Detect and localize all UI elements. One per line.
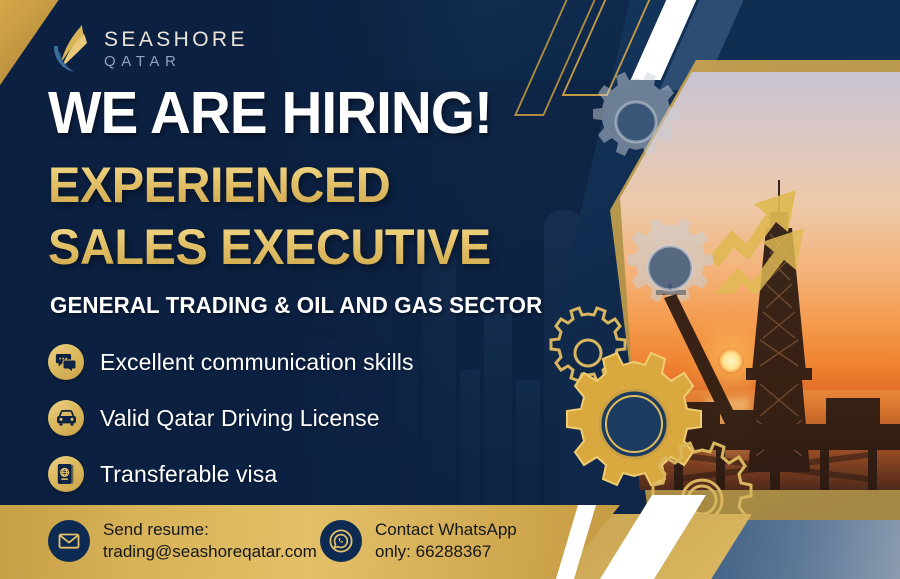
content-column: SEASHORE QATAR WE ARE HIRING! EXPERIENCE… (0, 0, 600, 579)
brand-name: SEASHORE (104, 29, 248, 50)
hiring-headline: WE ARE HIRING! (48, 84, 492, 143)
contact-whatsapp-label: Contact WhatsApp (375, 520, 517, 539)
brand-logo-text: SEASHORE QATAR (104, 27, 248, 69)
contact-whatsapp[interactable]: Contact WhatsApp only: 66288367 (320, 519, 517, 563)
requirements-list: Excellent communication skills Valid Qat… (48, 338, 414, 506)
contact-email-value[interactable]: trading@seashoreqatar.com (103, 542, 317, 561)
list-item-label: Excellent communication skills (100, 349, 414, 376)
hiring-poster: SEASHORE QATAR WE ARE HIRING! EXPERIENCE… (0, 0, 900, 579)
list-item: Excellent communication skills (48, 338, 414, 386)
contact-whatsapp-text: Contact WhatsApp only: 66288367 (375, 519, 517, 563)
list-item: Transferable visa (48, 450, 414, 498)
car-icon (48, 400, 84, 436)
envelope-icon (48, 520, 90, 562)
passport-icon (48, 456, 84, 492)
list-item: Valid Qatar Driving License (48, 394, 414, 442)
role-line-1: EXPERIENCED (48, 160, 390, 210)
brand-logo: SEASHORE QATAR (52, 22, 248, 74)
brand-sub: QATAR (104, 54, 248, 69)
contact-email-label: Send resume: (103, 520, 209, 539)
whatsapp-icon (320, 520, 362, 562)
list-item-label: Transferable visa (100, 461, 277, 488)
right-artwork-panel (560, 0, 900, 579)
sector-subtitle: GENERAL TRADING & OIL AND GAS SECTOR (50, 292, 542, 319)
role-line-2: SALES EXECUTIVE (48, 222, 491, 272)
contact-whatsapp-value[interactable]: only: 66288367 (375, 542, 491, 561)
contact-email-text: Send resume: trading@seashoreqatar.com (103, 519, 317, 563)
chat-bubble-icon (48, 344, 84, 380)
sail-boat-logo-icon (52, 22, 94, 74)
contact-email[interactable]: Send resume: trading@seashoreqatar.com (48, 519, 317, 563)
list-item-label: Valid Qatar Driving License (100, 405, 380, 432)
